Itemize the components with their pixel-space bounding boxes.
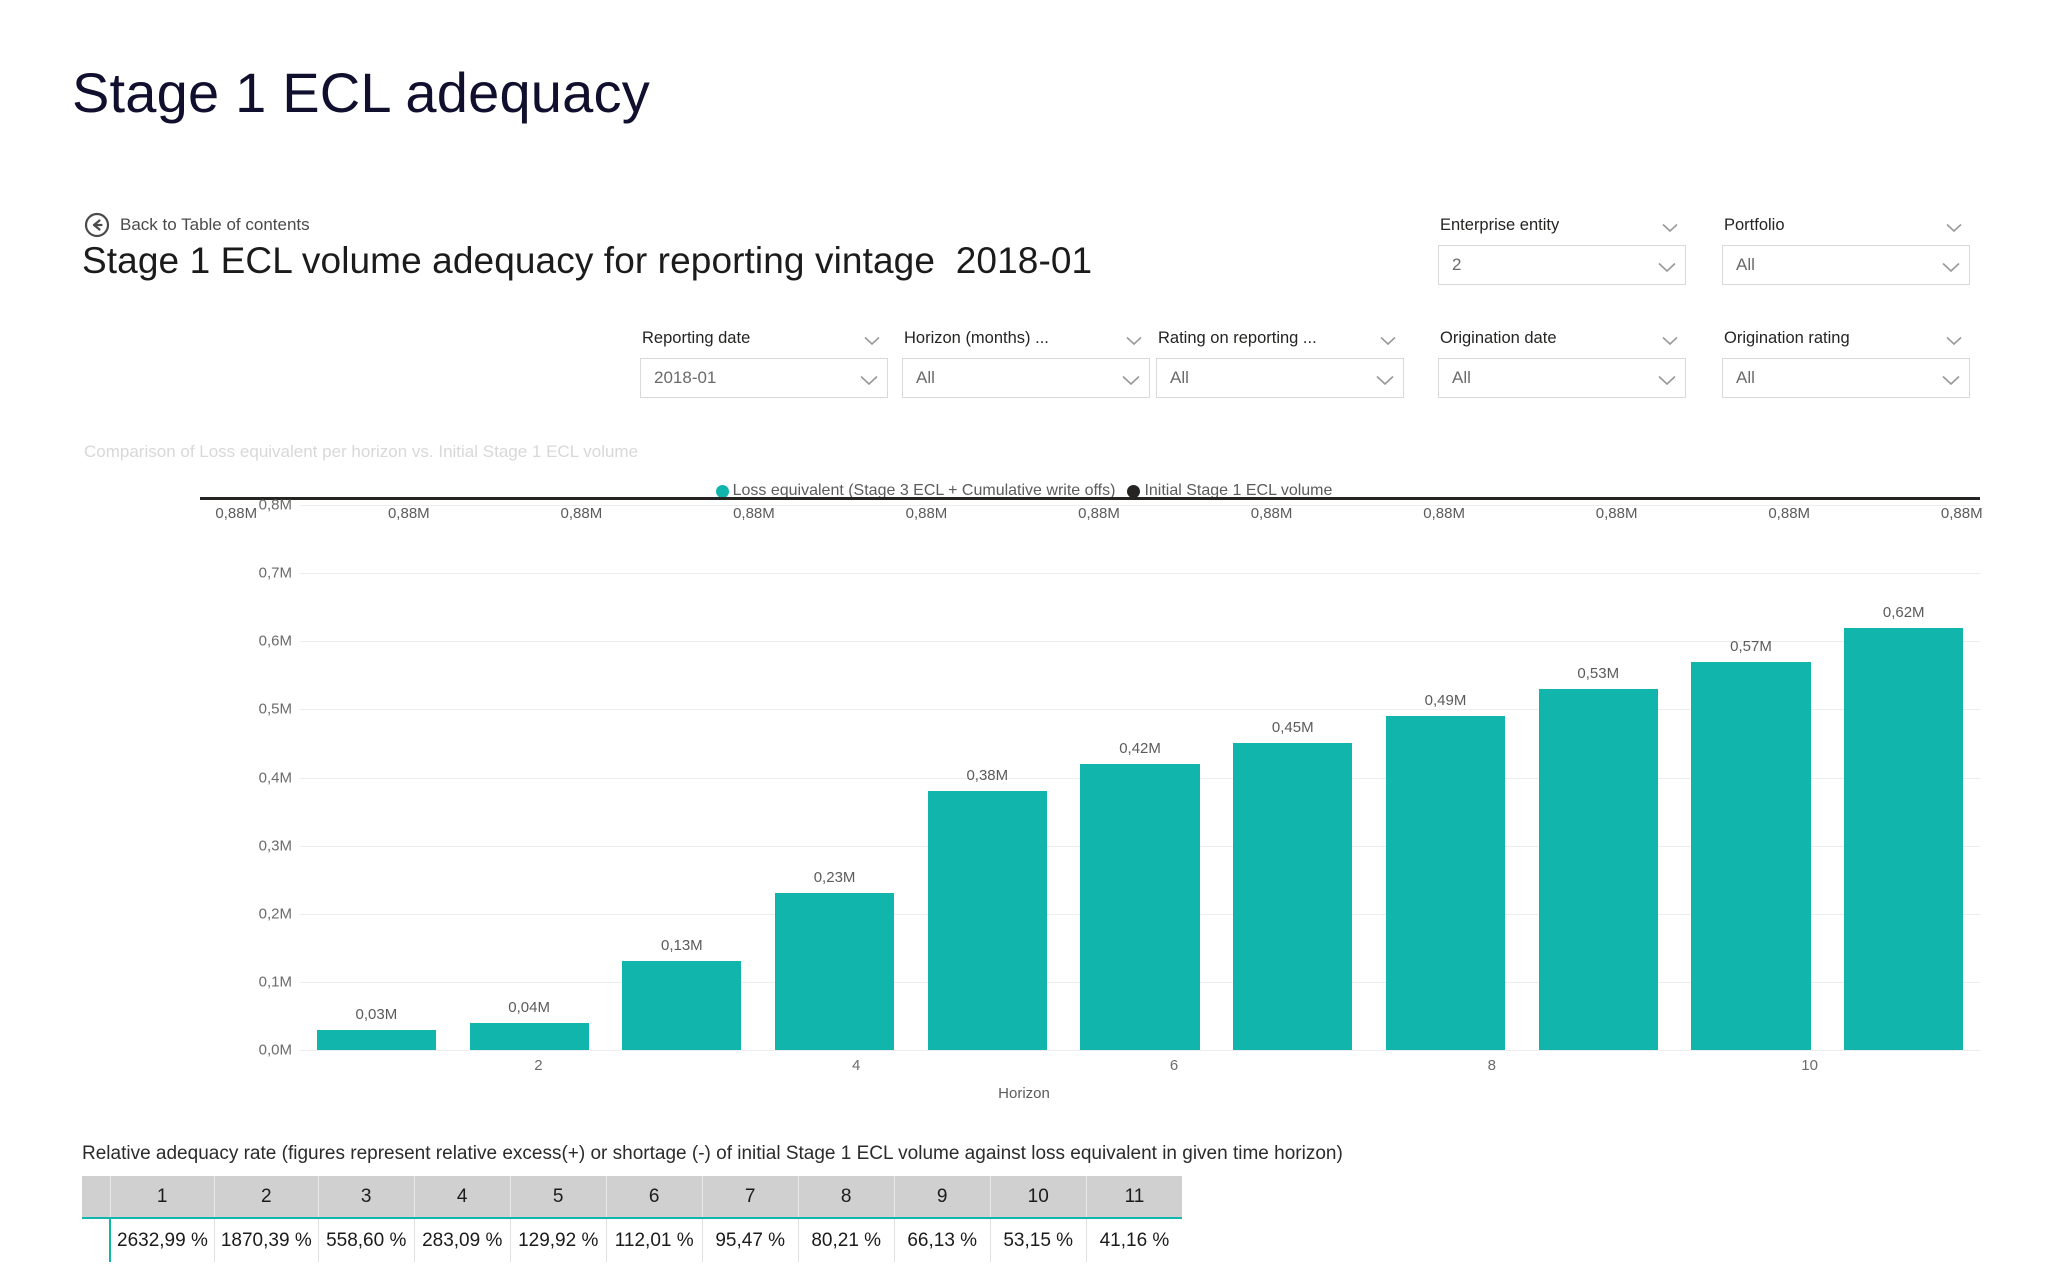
reference-line-initial-stage1-ecl <box>200 497 1980 500</box>
x-axis-tick: 4 <box>777 1057 936 1081</box>
y-axis-tick: 0,5M <box>150 701 300 718</box>
y-axis-tick: 0,4M <box>150 769 300 786</box>
slicer-rating-on-reporting[interactable]: Rating on reporting ... All <box>1156 325 1404 398</box>
chevron-down-icon[interactable] <box>1662 333 1678 343</box>
table-column-header[interactable]: 5 <box>510 1176 606 1218</box>
slicer-reporting-date[interactable]: Reporting date 2018-01 <box>640 325 888 398</box>
table-row-marker <box>82 1218 110 1262</box>
x-axis-tick: 6 <box>1095 1057 1254 1081</box>
slicer-rating-on-reporting-label: Rating on reporting ... <box>1158 329 1317 348</box>
gridline <box>300 1050 1980 1051</box>
table-cell: 66,13 % <box>894 1218 990 1262</box>
bar-value-label: 0,62M <box>1883 604 1925 621</box>
table-cell: 95,47 % <box>702 1218 798 1262</box>
chevron-down-icon[interactable] <box>1376 373 1394 384</box>
slicer-portfolio-dropdown[interactable]: All <box>1722 245 1970 285</box>
y-axis: 0,0M0,1M0,2M0,3M0,4M0,5M0,6M0,7M0,8M <box>150 505 300 1050</box>
x-axis-tick <box>1253 1057 1412 1081</box>
slicer-horizon-months-dropdown[interactable]: All <box>902 358 1150 398</box>
table-column-header[interactable]: 7 <box>702 1176 798 1218</box>
bar-value-label: 0,23M <box>814 869 856 886</box>
bar-slot: 0,04M <box>453 505 606 1050</box>
chevron-down-icon[interactable] <box>1126 333 1142 343</box>
bar-value-label: 0,04M <box>508 999 550 1016</box>
bar-value-label: 0,57M <box>1730 638 1772 655</box>
chevron-down-icon[interactable] <box>1380 333 1396 343</box>
x-axis-tick: 8 <box>1412 1057 1571 1081</box>
x-axis-tick <box>300 1057 459 1081</box>
slicer-origination-date-dropdown[interactable]: All <box>1438 358 1686 398</box>
table-column-header[interactable]: 9 <box>894 1176 990 1218</box>
chevron-down-icon[interactable] <box>1658 373 1676 384</box>
table-cell: 558,60 % <box>318 1218 414 1262</box>
y-axis-tick: 0,8M <box>150 497 300 514</box>
slicer-enterprise-entity-label: Enterprise entity <box>1440 216 1559 235</box>
bar-slot: 0,62M <box>1827 505 1980 1050</box>
legend-swatch-icon <box>1127 485 1140 498</box>
table-cell: 2632,99 % <box>110 1218 214 1262</box>
table-column-header[interactable]: 4 <box>414 1176 510 1218</box>
chevron-down-icon[interactable] <box>1658 260 1676 271</box>
slicer-enterprise-entity-value: 2 <box>1452 255 1461 275</box>
x-axis-tick <box>1571 1057 1730 1081</box>
bar[interactable] <box>1386 716 1505 1050</box>
slicer-origination-rating-label: Origination rating <box>1724 329 1850 348</box>
bar[interactable] <box>1233 743 1352 1050</box>
slicer-enterprise-entity-header[interactable]: Enterprise entity <box>1438 212 1686 238</box>
chevron-down-icon[interactable] <box>860 373 878 384</box>
chevron-down-icon[interactable] <box>1946 220 1962 230</box>
y-axis-tick: 0,1M <box>150 973 300 990</box>
bar-value-label: 0,53M <box>1577 665 1619 682</box>
table-column-header[interactable]: 8 <box>798 1176 894 1218</box>
bar-slot: 0,42M <box>1064 505 1217 1050</box>
slicer-horizon-months-header[interactable]: Horizon (months) ... <box>902 325 1150 351</box>
report-page: Stage 1 ECL adequacy Back to Table of co… <box>0 0 2048 1280</box>
y-axis-tick: 0,6M <box>150 633 300 650</box>
slicer-rating-on-reporting-value: All <box>1170 368 1189 388</box>
bar[interactable] <box>1691 662 1810 1050</box>
y-axis-tick: 0,7M <box>150 565 300 582</box>
bar-slot: 0,13M <box>605 505 758 1050</box>
bar[interactable] <box>1080 764 1199 1050</box>
slicer-reporting-date-label: Reporting date <box>642 329 750 348</box>
x-axis-title: Horizon <box>0 1085 2048 1102</box>
y-axis-tick: 0,3M <box>150 837 300 854</box>
slicer-origination-date-label: Origination date <box>1440 329 1557 348</box>
bar[interactable] <box>775 893 894 1050</box>
bar-chart: 0,0M0,1M0,2M0,3M0,4M0,5M0,6M0,7M0,8M 0,0… <box>150 505 1980 1050</box>
chevron-down-icon[interactable] <box>1942 260 1960 271</box>
bar-slot: 0,23M <box>758 505 911 1050</box>
bar-slot: 0,03M <box>300 505 453 1050</box>
table-cell: 283,09 % <box>414 1218 510 1262</box>
x-axis-tick: 10 <box>1730 1057 1889 1081</box>
bar[interactable] <box>1844 628 1963 1050</box>
chevron-down-icon[interactable] <box>864 333 880 343</box>
slicer-horizon-months[interactable]: Horizon (months) ... All <box>902 325 1150 398</box>
bar-slot: 0,45M <box>1216 505 1369 1050</box>
table-corner-cell <box>82 1176 110 1218</box>
slicer-portfolio-value: All <box>1736 255 1755 275</box>
y-axis-tick: 0,0M <box>150 1042 300 1059</box>
slicer-rating-on-reporting-dropdown[interactable]: All <box>1156 358 1404 398</box>
slicer-reporting-date-header[interactable]: Reporting date <box>640 325 888 351</box>
table-column-header[interactable]: 2 <box>214 1176 318 1218</box>
slicer-origination-date-header[interactable]: Origination date <box>1438 325 1686 351</box>
slicer-reporting-date-value: 2018-01 <box>654 368 716 388</box>
table-cell: 53,15 % <box>990 1218 1086 1262</box>
table-cell: 112,01 % <box>606 1218 702 1262</box>
table-cell: 1870,39 % <box>214 1218 318 1262</box>
page-title: Stage 1 ECL adequacy <box>72 62 650 124</box>
table-column-header[interactable]: 11 <box>1086 1176 1182 1218</box>
relative-adequacy-table: 1234567891011 2632,99 %1870,39 %558,60 %… <box>82 1176 1182 1262</box>
slicer-enterprise-entity-dropdown[interactable]: 2 <box>1438 245 1686 285</box>
bar[interactable] <box>317 1030 436 1050</box>
slicer-origination-rating-header[interactable]: Origination rating <box>1722 325 1970 351</box>
slicer-enterprise-entity[interactable]: Enterprise entity 2 <box>1438 212 1686 285</box>
chevron-down-icon[interactable] <box>1122 373 1140 384</box>
bar-slot: 0,38M <box>911 505 1064 1050</box>
table-cell: 80,21 % <box>798 1218 894 1262</box>
slicer-rating-on-reporting-header[interactable]: Rating on reporting ... <box>1156 325 1404 351</box>
slicer-origination-date[interactable]: Origination date All <box>1438 325 1686 398</box>
table-row: 2632,99 %1870,39 %558,60 %283,09 %129,92… <box>82 1218 1182 1262</box>
chevron-down-icon[interactable] <box>1662 220 1678 230</box>
slicer-portfolio[interactable]: Portfolio All <box>1722 212 1970 285</box>
slicer-portfolio-header[interactable]: Portfolio <box>1722 212 1970 238</box>
table-caption: Relative adequacy rate (figures represen… <box>82 1143 1343 1165</box>
back-to-contents-label: Back to Table of contents <box>120 215 310 235</box>
bar[interactable] <box>622 961 741 1050</box>
table-column-header[interactable]: 10 <box>990 1176 1086 1218</box>
bar[interactable] <box>1539 689 1658 1050</box>
slicer-origination-rating-value: All <box>1736 368 1755 388</box>
chart-subtitle: Comparison of Loss equivalent per horizo… <box>84 442 638 462</box>
slicer-horizon-months-value: All <box>916 368 935 388</box>
back-to-contents-link[interactable]: Back to Table of contents <box>84 212 310 238</box>
bar-slot: 0,53M <box>1522 505 1675 1050</box>
table-header-row: 1234567891011 <box>82 1176 1182 1218</box>
bar[interactable] <box>928 791 1047 1050</box>
slicer-origination-rating-dropdown[interactable]: All <box>1722 358 1970 398</box>
bar-value-label: 0,03M <box>356 1006 398 1023</box>
slicer-reporting-date-dropdown[interactable]: 2018-01 <box>640 358 888 398</box>
legend-swatch-icon <box>716 485 729 498</box>
x-axis: 246810 <box>300 1057 2048 1081</box>
bar-value-label: 0,42M <box>1119 740 1161 757</box>
table-cell: 41,16 % <box>1086 1218 1182 1262</box>
x-axis-tick <box>936 1057 1095 1081</box>
chevron-down-icon[interactable] <box>1942 373 1960 384</box>
bar-value-label: 0,45M <box>1272 719 1314 736</box>
bar-value-label: 0,38M <box>966 767 1008 784</box>
back-arrow-circle-icon <box>84 212 110 238</box>
table-column-header[interactable]: 1 <box>110 1176 214 1218</box>
bar-slot: 0,57M <box>1675 505 1828 1050</box>
chevron-down-icon[interactable] <box>1946 333 1962 343</box>
table-column-header[interactable]: 6 <box>606 1176 702 1218</box>
slicer-origination-date-value: All <box>1452 368 1471 388</box>
slicer-horizon-months-label: Horizon (months) ... <box>904 329 1049 348</box>
report-title: Stage 1 ECL volume adequacy for reportin… <box>82 240 1092 282</box>
table-column-header[interactable]: 3 <box>318 1176 414 1218</box>
slicer-portfolio-label: Portfolio <box>1724 216 1785 235</box>
bar-slot: 0,49M <box>1369 505 1522 1050</box>
table-cell: 129,92 % <box>510 1218 606 1262</box>
bar-value-label: 0,13M <box>661 937 703 954</box>
bar-value-label: 0,49M <box>1425 692 1467 709</box>
x-axis-tick: 2 <box>459 1057 618 1081</box>
y-axis-tick: 0,2M <box>150 905 300 922</box>
x-axis-tick <box>618 1057 777 1081</box>
x-axis-tick <box>1889 1057 2048 1081</box>
bar[interactable] <box>470 1023 589 1050</box>
bar-series: 0,03M0,04M0,13M0,23M0,38M0,42M0,45M0,49M… <box>300 505 1980 1050</box>
slicer-origination-rating[interactable]: Origination rating All <box>1722 325 1970 398</box>
